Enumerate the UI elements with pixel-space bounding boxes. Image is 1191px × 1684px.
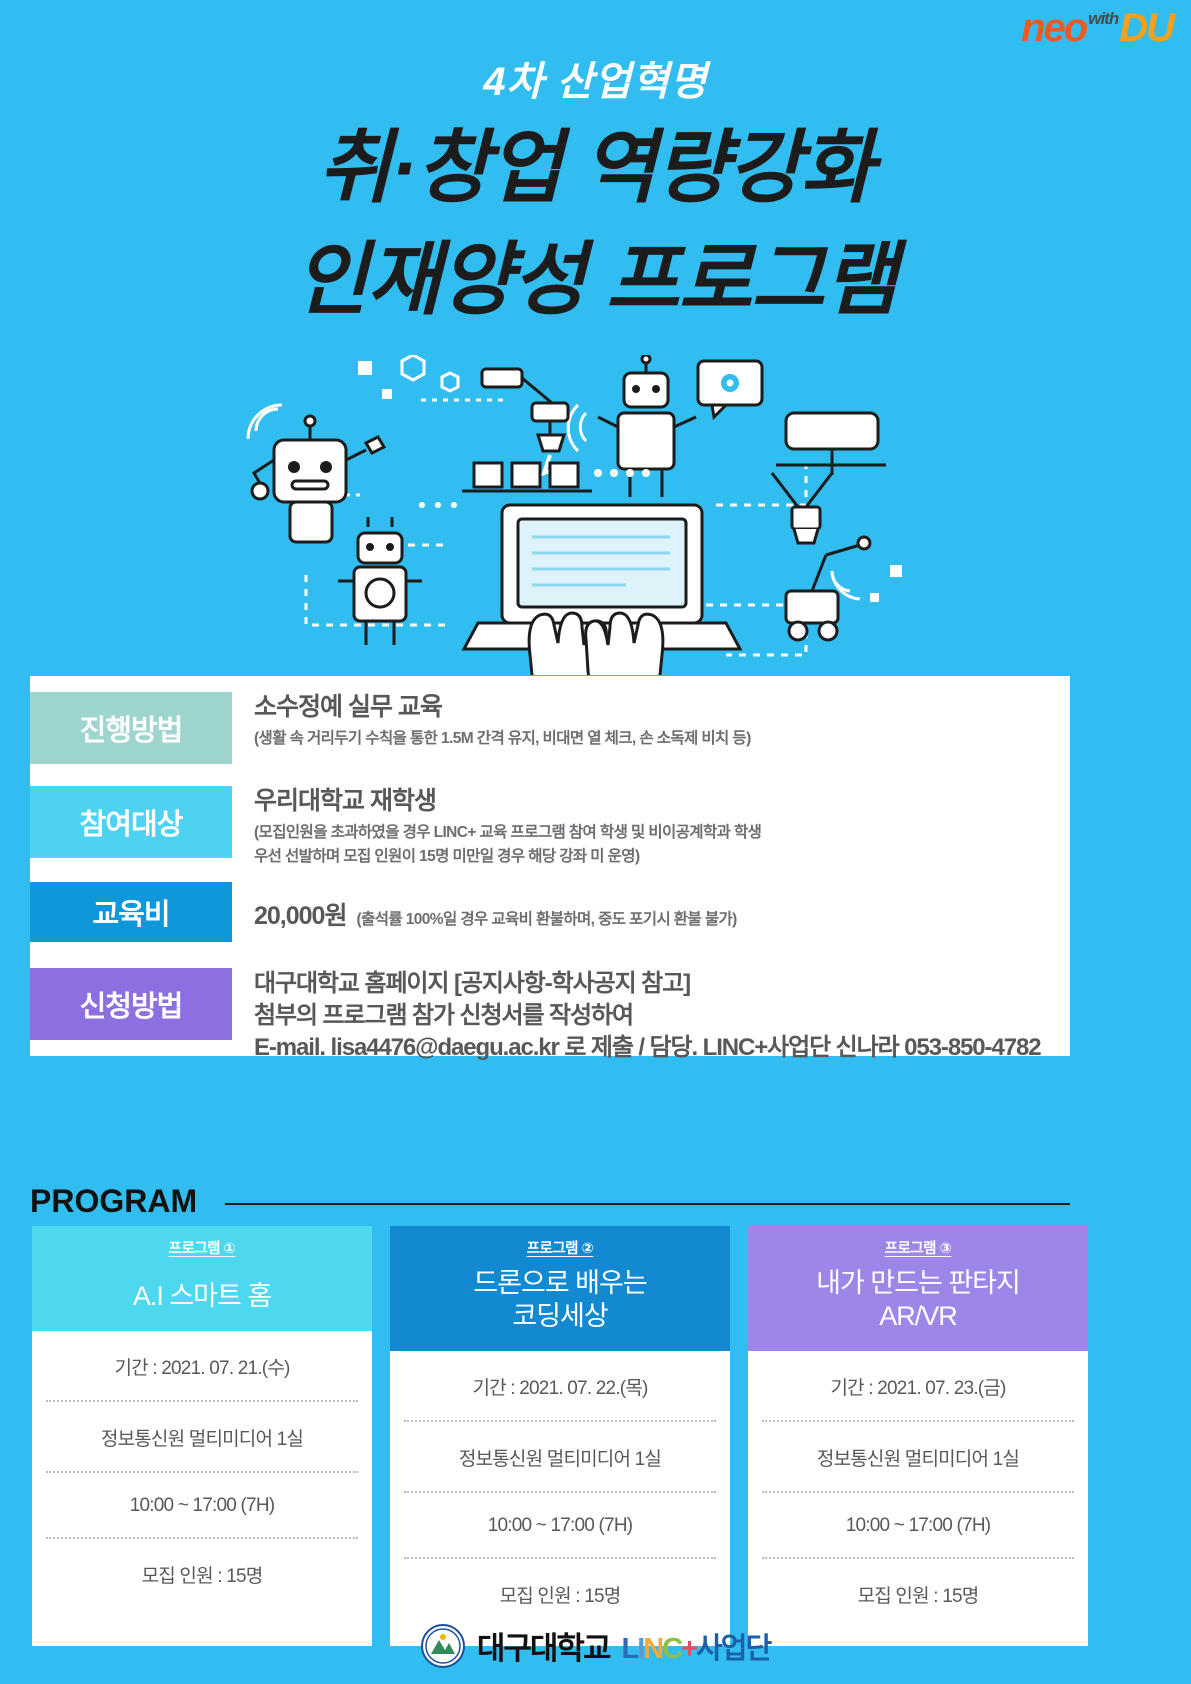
program-card-date: 기간 : 2021. 07. 22.(목) <box>404 1351 716 1422</box>
program-heading: PROGRAM <box>30 1183 1070 1220</box>
info-sub-target-line2: 우선 선발하며 모집 인원이 15명 미만일 경우 해당 강좌 미 운영) <box>254 845 761 869</box>
linc-plus-sign: + <box>681 1633 696 1665</box>
info-head-target: 우리대학교 재학생 <box>254 786 761 817</box>
program-card-header: 프로그램 ② 드론으로 배우는 코딩세상 <box>390 1226 730 1351</box>
program-card-title: A.I 스마트 홈 <box>38 1280 366 1313</box>
fee-note: (출석률 100%일 경우 교육비 환불하며, 중도 포기시 환불 불가) <box>356 908 736 932</box>
info-label-fee: 교육비 <box>30 882 232 942</box>
logo-neo-text: neo <box>1021 8 1086 48</box>
program-card: 프로그램 ③ 내가 만드는 판타지 AR/VR 기간 : 2021. 07. 2… <box>748 1226 1088 1646</box>
info-row-apply: 신청방법 대구대학교 홈페이지 [공지사항-학사공지 참고] 첨부의 프로그램 … <box>30 968 1040 1064</box>
program-card-title: 드론으로 배우는 코딩세상 <box>396 1267 724 1333</box>
headline-line-2: 인재양성 프로그램 <box>0 236 1191 324</box>
headline-kicker: 4차 산업혁명 <box>0 62 1191 102</box>
logo-du-text: DU <box>1119 8 1173 48</box>
poster-root: neo with DU 4차 산업혁명 취·창업 역량강화 인재양성 프로그램 <box>0 0 1191 1684</box>
info-label-target: 참여대상 <box>30 786 232 858</box>
program-card-quota: 모집 인원 : 15명 <box>404 1559 716 1628</box>
program-card-date: 기간 : 2021. 07. 23.(금) <box>762 1351 1074 1422</box>
info-body-apply: 대구대학교 홈페이지 [공지사항-학사공지 참고] 첨부의 프로그램 참가 신청… <box>232 968 1040 1064</box>
apply-line-1: 대구대학교 홈페이지 [공지사항-학사공지 참고] <box>254 968 1040 1000</box>
program-card-kicker: 프로그램 ③ <box>754 1237 1082 1258</box>
program-card-list: 프로그램 ① A.I 스마트 홈 기간 : 2021. 07. 21.(수) 정… <box>32 1226 1160 1646</box>
neo-with-du-logo: neo with DU <box>1021 8 1173 48</box>
info-label-apply: 신청방법 <box>30 968 232 1040</box>
info-row-method: 진행방법 소수정예 실무 교육 (생활 속 거리두기 수칙을 통한 1.5M 간… <box>30 692 751 764</box>
program-card-title: 내가 만드는 판타지 AR/VR <box>754 1267 1082 1333</box>
info-panel: 진행방법 소수정예 실무 교육 (생활 속 거리두기 수칙을 통한 1.5M 간… <box>30 676 1070 1056</box>
linc-letter-l: L <box>621 1633 637 1665</box>
footer-logos: 대구대학교 LINC+사업단 <box>0 1623 1191 1668</box>
program-card-quota: 모집 인원 : 15명 <box>46 1539 358 1608</box>
info-body-target: 우리대학교 재학생 (모집인원을 초과하였을 경우 LINC+ 교육 프로그램 … <box>232 786 761 869</box>
program-card-place: 정보통신원 멀티미디어 1실 <box>404 1422 716 1493</box>
program-card-time: 10:00 ~ 17:00 (7H) <box>404 1493 716 1559</box>
footer-university-name: 대구대학교 <box>477 1623 610 1668</box>
linc-tail-text: 사업단 <box>696 1633 770 1665</box>
program-card-body: 기간 : 2021. 07. 22.(목) 정보통신원 멀티미디어 1실 10:… <box>390 1351 730 1646</box>
program-card-body: 기간 : 2021. 07. 21.(수) 정보통신원 멀티미디어 1실 10:… <box>32 1331 372 1626</box>
program-card-quota: 모집 인원 : 15명 <box>762 1559 1074 1628</box>
info-sub-target-line1: (모집인원을 초과하였을 경우 LINC+ 교육 프로그램 참여 학생 및 비이… <box>254 821 761 845</box>
program-card: 프로그램 ① A.I 스마트 홈 기간 : 2021. 07. 21.(수) 정… <box>32 1226 372 1646</box>
program-card-place: 정보통신원 멀티미디어 1실 <box>46 1402 358 1473</box>
program-card-kicker: 프로그램 ① <box>38 1237 366 1258</box>
daegu-university-emblem-icon <box>421 1624 465 1668</box>
program-card-date: 기간 : 2021. 07. 21.(수) <box>46 1331 358 1402</box>
info-label-method: 진행방법 <box>30 692 232 764</box>
program-heading-rule <box>225 1203 1070 1205</box>
program-heading-title: PROGRAM <box>30 1183 197 1220</box>
apply-line-3: E-mail. lisa4476@daegu.ac.kr 로 제출 / 담당. … <box>254 1032 1040 1064</box>
program-card-time: 10:00 ~ 17:00 (7H) <box>46 1473 358 1539</box>
program-card-place: 정보통신원 멀티미디어 1실 <box>762 1422 1074 1493</box>
apply-line-2: 첨부의 프로그램 참가 신청서를 작성하여 <box>254 1000 1040 1032</box>
robotics-illustration <box>246 355 946 675</box>
info-body-method: 소수정예 실무 교육 (생활 속 거리두기 수칙을 통한 1.5M 간격 유지,… <box>232 692 751 764</box>
footer-linc-logo: LINC+사업단 <box>621 1625 770 1667</box>
program-card: 프로그램 ② 드론으로 배우는 코딩세상 기간 : 2021. 07. 22.(… <box>390 1226 730 1646</box>
program-card-time: 10:00 ~ 17:00 (7H) <box>762 1493 1074 1559</box>
info-row-fee: 교육비 20,000원 (출석률 100%일 경우 교육비 환불하며, 중도 포… <box>30 882 737 942</box>
program-card-header: 프로그램 ① A.I 스마트 홈 <box>32 1226 372 1331</box>
logo-with-text: with <box>1088 10 1118 27</box>
headline-line-1: 취·창업 역량강화 <box>0 124 1191 212</box>
fee-amount: 20,000원 <box>254 896 346 932</box>
headline-block: 4차 산업혁명 취·창업 역량강화 인재양성 프로그램 <box>0 62 1191 324</box>
info-body-fee: 20,000원 (출석률 100%일 경우 교육비 환불하며, 중도 포기시 환… <box>232 882 737 942</box>
info-head-method: 소수정예 실무 교육 <box>254 692 751 723</box>
program-card-header: 프로그램 ③ 내가 만드는 판타지 AR/VR <box>748 1226 1088 1351</box>
linc-letter-n: N <box>643 1633 662 1665</box>
program-card-kicker: 프로그램 ② <box>396 1237 724 1258</box>
info-sub-method: (생활 속 거리두기 수칙을 통한 1.5M 간격 유지, 비대면 열 체크, … <box>254 727 751 751</box>
info-row-target: 참여대상 우리대학교 재학생 (모집인원을 초과하였을 경우 LINC+ 교육 … <box>30 786 761 869</box>
linc-letter-c: C <box>662 1633 681 1665</box>
program-card-body: 기간 : 2021. 07. 23.(금) 정보통신원 멀티미디어 1실 10:… <box>748 1351 1088 1646</box>
